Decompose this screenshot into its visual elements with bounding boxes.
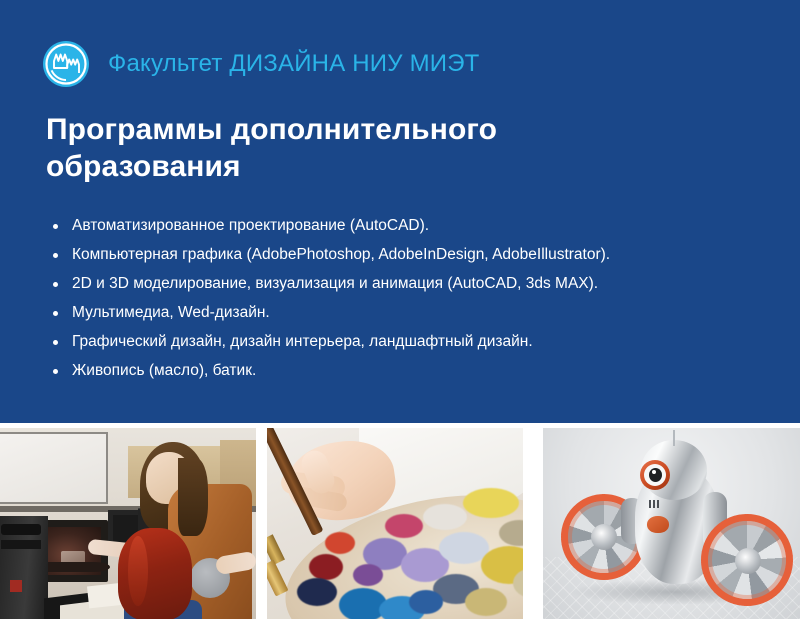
photo-strip: [0, 423, 800, 619]
photo-paint-palette: [267, 428, 523, 619]
header: Факультет ДИЗАЙНА НИУ МИЭТ: [0, 38, 800, 90]
list-item: Компьютерная графика (AdobePhotoshop, Ad…: [50, 247, 770, 263]
programs-list: Автоматизированное проектирование (AutoC…: [50, 218, 770, 392]
page-title: Программы дополнительного образования: [46, 112, 666, 185]
photo-3d-robot: [543, 428, 800, 619]
content-panel: Факультет ДИЗАЙНА НИУ МИЭТ Программы доп…: [0, 0, 800, 423]
header-faculty-word: Факультет: [108, 50, 229, 77]
list-item: Живопись (масло), батик.: [50, 363, 770, 379]
list-item: Графический дизайн, дизайн интерьера, ла…: [50, 334, 770, 350]
header-department: ДИЗАЙНА НИУ МИЭТ: [229, 50, 479, 77]
list-item: Мультимедиа, Wed-дизайн.: [50, 305, 770, 321]
list-item: 2D и 3D моделирование, визуализация и ан…: [50, 276, 770, 292]
list-item: Автоматизированное проектирование (AutoC…: [50, 218, 770, 234]
header-title: Факультет ДИЗАЙНА НИУ МИЭТ: [108, 52, 480, 76]
photo-computer-classroom: [0, 428, 256, 619]
miet-logo-icon: [42, 40, 90, 88]
slide: Факультет ДИЗАЙНА НИУ МИЭТ Программы доп…: [0, 0, 800, 619]
